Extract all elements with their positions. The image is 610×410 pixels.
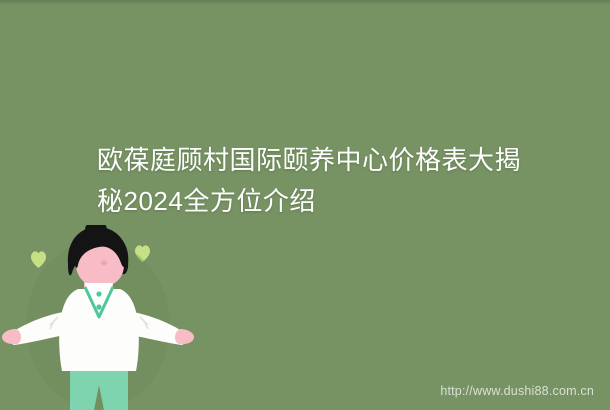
right-hand (175, 329, 194, 344)
collar-button-top (96, 291, 101, 296)
top-edge-shade (0, 0, 610, 5)
illustration-container (0, 225, 210, 410)
person-shrugging-illustration (0, 225, 210, 410)
promo-banner: 欧葆庭顾村国际颐养中心价格表大揭秘2024全方位介绍 (0, 0, 610, 410)
nose-mark (101, 261, 107, 266)
left-hand (2, 329, 21, 344)
watermark-url: http://www.dushi88.com.cn (440, 384, 594, 398)
sweater-torso (59, 289, 139, 371)
page-title: 欧葆庭顾村国际颐养中心价格表大揭秘2024全方位介绍 (97, 140, 527, 222)
collar-button-bottom (96, 304, 101, 309)
heart-left-icon (31, 251, 46, 268)
